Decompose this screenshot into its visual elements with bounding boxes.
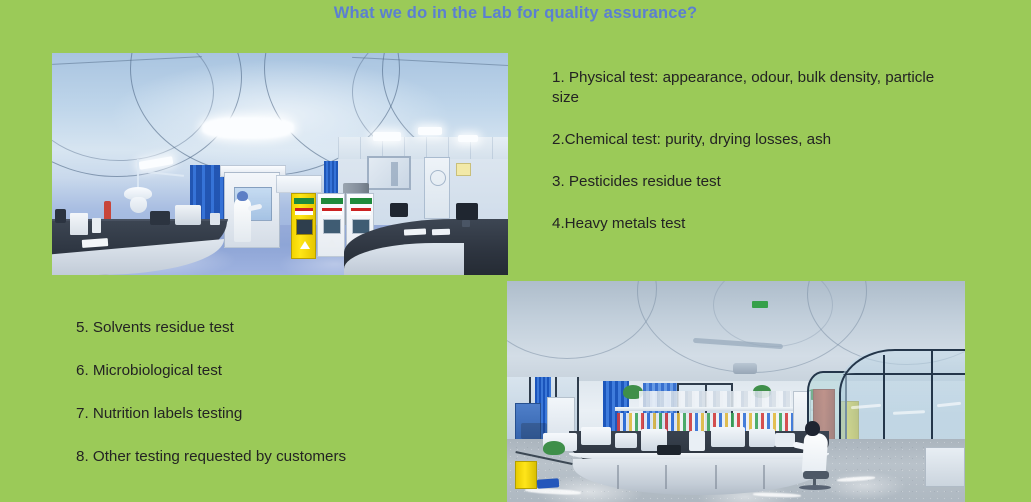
photo-lab-cleanroom — [52, 53, 508, 275]
cabinet-green-label — [294, 198, 314, 204]
wall-picture-frame — [367, 156, 411, 190]
bench-instrument — [581, 427, 611, 445]
lab-stool-seat — [803, 471, 829, 479]
bench-instrument — [175, 205, 201, 225]
reagent-shelf — [615, 407, 813, 411]
glass-partition-rail — [843, 373, 965, 375]
chemical-storage-cabinet — [317, 193, 345, 257]
yellow-safety-cabinet — [291, 193, 316, 259]
list-item: 8. Other testing requested by customers — [76, 447, 476, 467]
potted-plant — [543, 441, 565, 455]
island-bench-divider — [665, 465, 667, 489]
bench-instrument — [689, 431, 705, 451]
cabinet-window — [323, 219, 341, 234]
lab-technician-head — [237, 191, 248, 201]
hazard-triangle-icon — [300, 241, 310, 249]
ceiling-vent — [733, 363, 757, 374]
qa-test-list-right: 1. Physical test: appearance, odour, bul… — [552, 68, 952, 234]
cabinet-green-label — [350, 198, 372, 204]
ceiling-light — [202, 117, 294, 139]
qa-test-list-left: 5. Solvents residue test 6. Microbiologi… — [76, 318, 476, 467]
lab-analyst-body — [802, 432, 829, 476]
lab-door — [424, 157, 450, 219]
reagent-bottles — [639, 391, 791, 407]
exit-sign — [752, 301, 768, 308]
computer-monitor — [390, 203, 408, 217]
list-item: 2.Chemical test: purity, drying losses, … — [552, 130, 952, 150]
lab-analytical-scene — [507, 281, 965, 502]
cabinet-red-label — [351, 208, 371, 215]
cabinet-window — [296, 219, 313, 235]
bench-instrument — [70, 213, 88, 235]
blue-bin — [537, 478, 560, 489]
ceiling-light — [458, 135, 478, 142]
bench-instrument — [92, 218, 101, 233]
cabinet-red-label — [295, 208, 313, 215]
fume-hood-secondary — [276, 175, 322, 193]
monitor-stand — [462, 220, 470, 227]
lab-cleanroom-scene — [52, 53, 508, 275]
bench-instrument — [210, 213, 220, 225]
bench-instrument — [711, 427, 745, 447]
page-title: What we do in the Lab for quality assura… — [0, 4, 1031, 23]
cabinet-red-label — [322, 208, 342, 215]
bench-instrument — [150, 211, 170, 225]
hanging-lamp-shade — [130, 197, 147, 213]
lab-stool-base — [799, 485, 831, 490]
cabinet-green-label — [321, 198, 343, 204]
bench-instrument — [749, 429, 775, 447]
computer-monitor — [456, 203, 478, 220]
bench-instrument — [55, 209, 66, 223]
ceiling-light — [373, 132, 401, 141]
slide-root: What we do in the Lab for quality assura… — [0, 0, 1031, 502]
island-bench-divider — [715, 465, 717, 489]
photo-lab-analytical — [507, 281, 965, 502]
list-item: 3. Pesticides residue test — [552, 172, 952, 192]
list-item: 5. Solvents residue test — [76, 318, 476, 338]
bench-paper — [432, 229, 450, 236]
bench-paper — [404, 228, 426, 235]
ceiling-grid — [338, 137, 508, 159]
yellow-safety-cabinet — [515, 461, 537, 489]
side-cabinet — [925, 447, 965, 487]
lab-analyst-head — [805, 421, 820, 436]
island-bench-divider — [617, 465, 619, 489]
hazard-triangle-icon — [327, 239, 337, 247]
reagent-bottle — [104, 201, 111, 219]
wall-poster — [456, 163, 471, 176]
list-item: 1. Physical test: appearance, odour, bul… — [552, 68, 952, 108]
bench-instrument — [615, 433, 637, 448]
lab-technician-body — [234, 198, 251, 242]
ceiling-light — [418, 127, 442, 135]
island-bench-divider — [763, 465, 765, 489]
list-item: 7. Nutrition labels testing — [76, 404, 476, 424]
list-item: 4.Heavy metals test — [552, 214, 952, 234]
list-item: 6. Microbiological test — [76, 361, 476, 381]
bench-instrument-screen — [657, 445, 681, 455]
